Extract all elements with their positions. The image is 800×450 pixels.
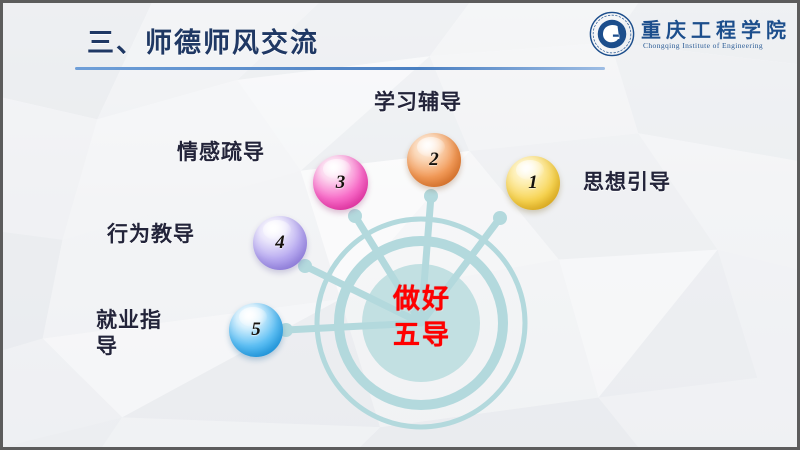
node-label-1: 思想引导 — [583, 170, 671, 196]
node-sphere-5[interactable]: 5 — [229, 303, 283, 357]
presentation-slide: 三、师德师风交流 重庆工程学院 Chongqing Institute of E… — [0, 0, 800, 450]
center-label-line-2: 五导 — [363, 317, 481, 353]
spoke-tip-node-3 — [348, 209, 362, 223]
node-number-5: 5 — [229, 303, 283, 357]
node-number-4: 4 — [253, 216, 307, 270]
node-number-3: 3 — [313, 155, 368, 210]
node-sphere-1[interactable]: 1 — [506, 156, 560, 210]
node-sphere-3[interactable]: 3 — [313, 155, 368, 210]
logo-name-en: Chongqing Institute of Engineering — [643, 41, 763, 50]
node-number-2: 2 — [407, 133, 461, 187]
node-sphere-4[interactable]: 4 — [253, 216, 307, 270]
university-logo: 重庆工程学院 Chongqing Institute of Engineerin… — [585, 9, 785, 61]
university-emblem-icon — [589, 11, 635, 57]
title-underline-rule — [75, 67, 605, 70]
node-label-5: 就业指 导 — [96, 308, 162, 361]
spoke-tip-node-2 — [424, 189, 438, 203]
node-label-3: 情感疏导 — [177, 140, 265, 166]
page-title: 三、师德师风交流 — [87, 21, 319, 60]
node-sphere-2[interactable]: 2 — [407, 133, 461, 187]
node-label-2: 学习辅导 — [374, 90, 462, 116]
node-label-4: 行为教导 — [107, 222, 195, 248]
center-label-line-1: 做好 — [363, 281, 481, 317]
logo-name-cn: 重庆工程学院 — [641, 14, 791, 43]
diagram-center-label: 做好 五导 — [363, 281, 481, 354]
spoke-tip-node-1 — [493, 211, 507, 225]
node-number-1: 1 — [506, 156, 560, 210]
